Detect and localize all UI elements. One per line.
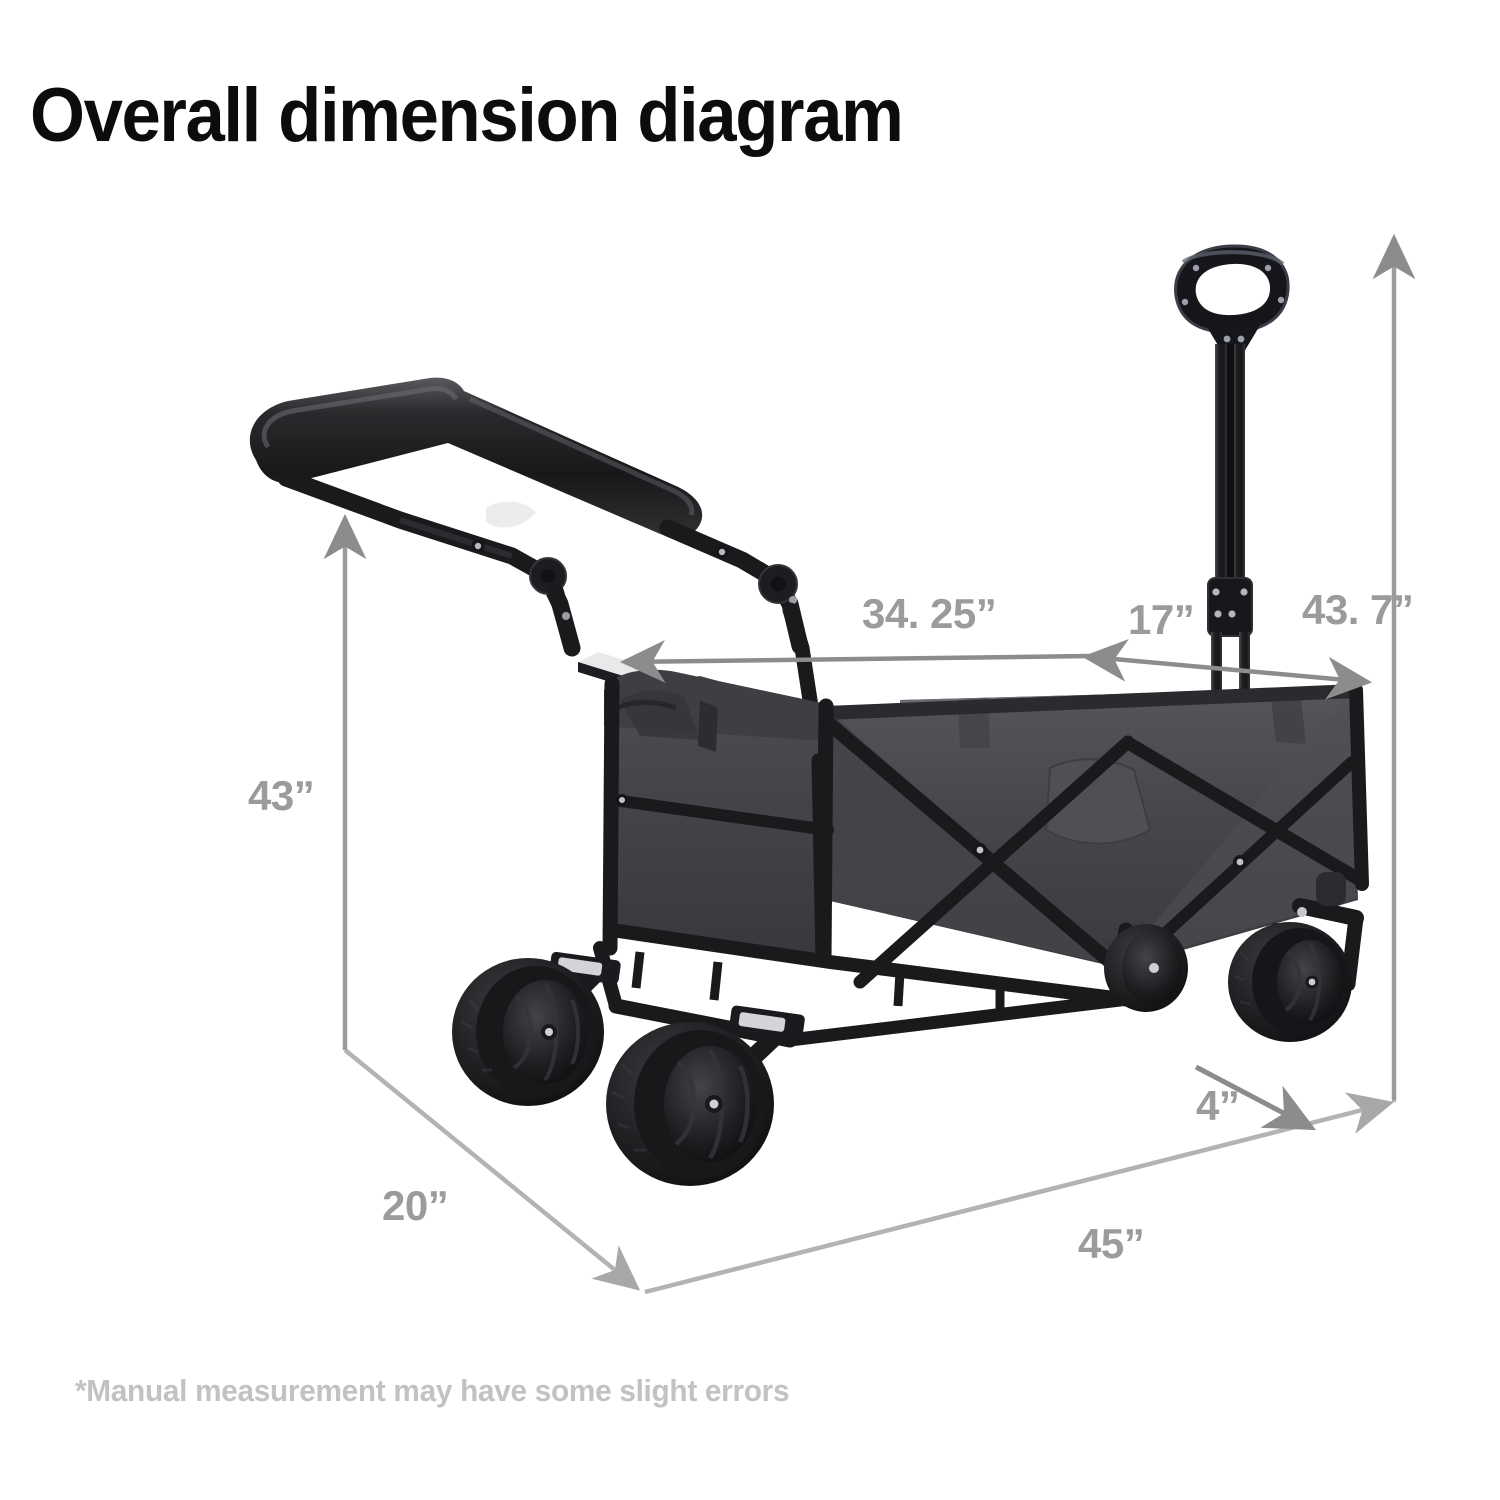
dimension-label-height-43: 43” xyxy=(248,772,314,819)
dimension-label-bed-34: 34. 25” xyxy=(862,590,996,637)
measurement-disclaimer: *Manual measurement may have some slight… xyxy=(75,1373,789,1409)
front-caster-wheels xyxy=(452,951,805,1186)
dimension-line-bed-34 xyxy=(624,656,1090,662)
dimension-line-offset-17 xyxy=(1092,657,1368,682)
dimension-label-offset-17: 17” xyxy=(1128,596,1194,643)
dimension-label-length-45: 45” xyxy=(1078,1220,1144,1267)
dimension-label-height-437: 43. 7” xyxy=(1302,586,1413,633)
dimension-label-depth-20: 20” xyxy=(382,1182,448,1229)
dimension-label-overhang-4: 4” xyxy=(1196,1082,1239,1129)
wagon-dimension-illustration: 43” 34. 25” 17” 43. 7” 20” 45” 4” xyxy=(0,0,1500,1500)
wagon-illustration xyxy=(250,246,1362,1186)
diagram-canvas: Overall dimension diagram xyxy=(0,0,1500,1500)
dimension-line-offset-17-back xyxy=(1086,657,1098,658)
